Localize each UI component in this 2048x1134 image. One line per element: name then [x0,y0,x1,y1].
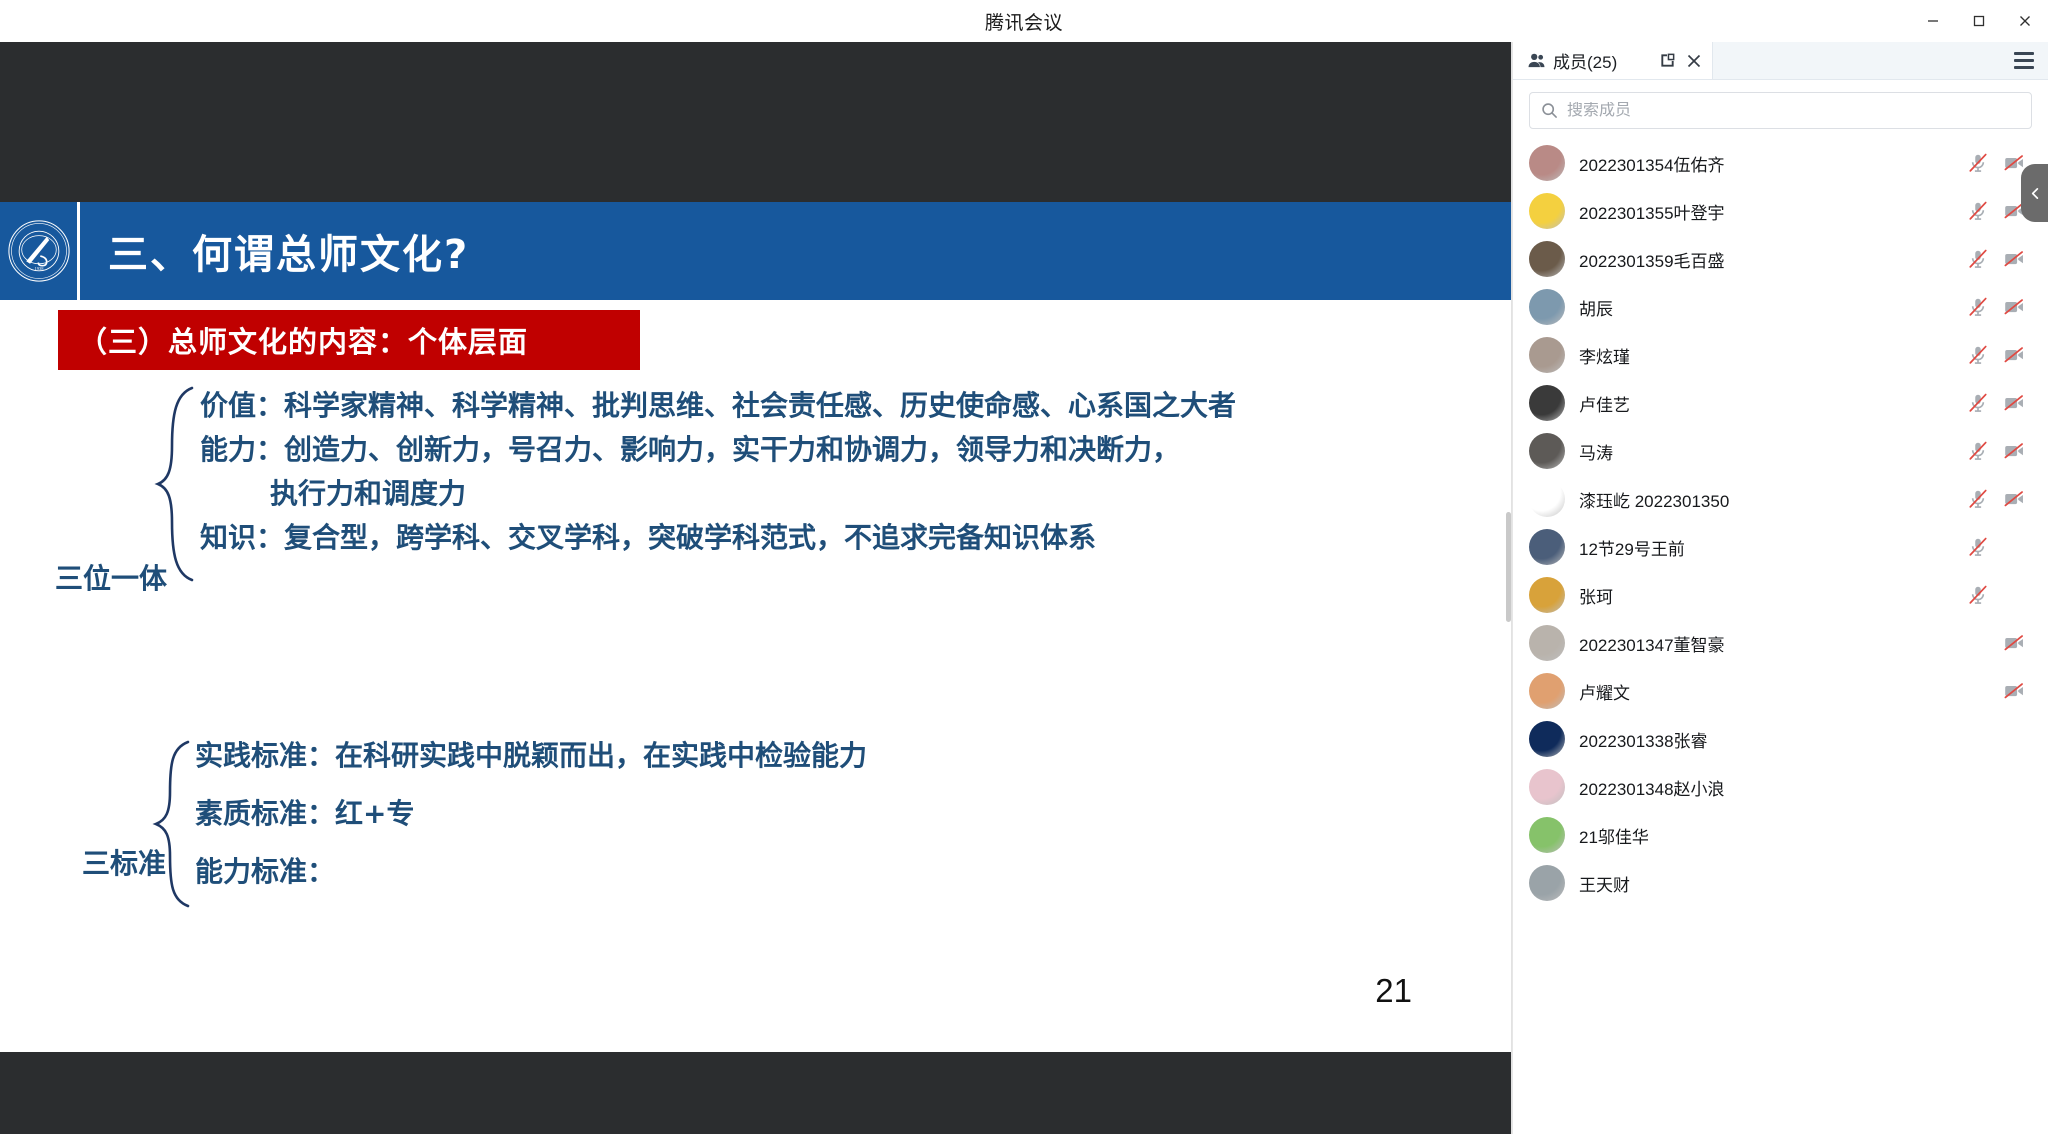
participant-row[interactable]: 12节29号王前 [1513,523,2048,571]
participant-row[interactable]: 2022301348赵小浪 [1513,763,2048,811]
participant-row[interactable]: 马涛 [1513,427,2048,475]
minimize-icon [1925,13,1941,29]
group-1-line-2: 能力：创造力、创新力，号召力、影响力，实干力和协调力，领导力和决断力， [200,436,1236,464]
participant-list[interactable]: 2022301354伍佑齐2022301355叶登宇2022301359毛百盛胡… [1513,139,2048,1134]
participant-status [1967,536,2025,558]
panel-tabbar: 成员(25) [1513,42,2048,80]
group-1-lines: 价值：科学家精神、科学精神、批判思维、社会责任感、历史使命感、心系国之大者 能力… [200,392,1236,568]
avatar [1529,673,1565,709]
participant-row[interactable]: 卢佳艺 [1513,379,2048,427]
slide-page-number: 21 [1375,972,1412,1010]
participant-status [1967,680,2025,702]
camera-muted-icon[interactable] [2003,344,2025,366]
camera-muted-icon[interactable] [2003,440,2025,462]
participant-name: 胡辰 [1579,295,1613,320]
participant-status [1967,728,2025,750]
participant-status [1967,296,2025,318]
camera-muted-icon[interactable] [2003,392,2025,414]
mic-muted-icon[interactable] [1967,392,1989,414]
participant-row[interactable]: 胡辰 [1513,283,2048,331]
avatar [1529,385,1565,421]
tab-participants-label: 成员(25) [1553,48,1617,73]
avatar [1529,865,1565,901]
participant-row[interactable]: 2022301338张睿 [1513,715,2048,763]
slide-header: 1938 三、何谓总师文化? [0,202,1512,300]
participant-row[interactable]: 漆珏屹 2022301350 [1513,475,2048,523]
avatar [1529,433,1565,469]
participant-name: 21邬佳华 [1579,823,1649,848]
camera-muted-icon[interactable] [2003,296,2025,318]
avatar [1529,769,1565,805]
group-1-line-1: 价值：科学家精神、科学精神、批判思维、社会责任感、历史使命感、心系国之大者 [200,392,1236,420]
collapse-panel-button[interactable] [2021,164,2048,222]
group-1-label: 三位一体 [55,557,167,597]
group-2-line-2: 素质标准：红+专 [195,800,867,828]
participant-status [1967,824,2025,846]
panel-close-icon[interactable] [1686,53,1702,69]
group-1-brace-icon [152,384,198,584]
mic-muted-icon[interactable] [1967,248,1989,270]
people-icon [1527,51,1546,70]
maximize-button[interactable] [1956,0,2002,42]
slide-subtitle-text: （三）总师文化的内容：个体层面 [58,319,528,361]
participant-status [1967,440,2025,462]
participant-status [1967,776,2025,798]
participant-name: 张珂 [1579,583,1613,608]
mic-muted-icon[interactable] [1967,344,1989,366]
participant-row[interactable]: 21邬佳华 [1513,811,2048,859]
mic-muted-icon[interactable] [1967,200,1989,222]
camera-muted-icon[interactable] [2003,632,2025,654]
participant-status [1967,152,2025,174]
participant-status [1967,344,2025,366]
participant-status [1967,200,2025,222]
mic-muted-icon[interactable] [1967,584,1989,606]
tab-actions [1659,52,1702,69]
avatar [1529,529,1565,565]
tabbar-empty-area [1713,42,2048,79]
participant-name: 漆珏屹 2022301350 [1579,487,1729,512]
participant-name: 2022301347董智豪 [1579,631,1725,656]
minimize-button[interactable] [1910,0,1956,42]
window-title: 腾讯会议 [985,8,1063,35]
avatar [1529,145,1565,181]
group-2-line-3: 能力标准： [195,858,867,886]
search-icon [1541,102,1558,119]
mic-muted-icon[interactable] [1967,296,1989,318]
participant-status [1967,872,2025,894]
avatar [1529,193,1565,229]
group-2-lines: 实践标准：在科研实践中脱颖而出，在实践中检验能力 素质标准：红+专 能力标准： [195,742,867,916]
shared-screen-stage[interactable]: 1938 三、何谓总师文化? （三）总师文化的内容：个体层面 三位一体 价值：科… [0,42,1512,1134]
search-box[interactable] [1529,92,2032,129]
university-logo: 1938 [0,202,80,300]
restore-icon [1971,13,1987,29]
participant-name: 2022301348赵小浪 [1579,775,1725,800]
participant-name: 王天财 [1579,871,1630,896]
participant-name: 2022301354伍佑齐 [1579,151,1725,176]
search-area [1513,80,2048,139]
participant-name: 12节29号王前 [1579,535,1685,560]
slide-title: 三、何谓总师文化? [108,222,469,280]
presentation-slide: 1938 三、何谓总师文化? （三）总师文化的内容：个体层面 三位一体 价值：科… [0,202,1512,1052]
nwpu-seal-icon: 1938 [7,219,71,283]
avatar [1529,337,1565,373]
group-1-line-4: 知识：复合型，跨学科、交叉学科，突破学科范式，不追求完备知识体系 [200,524,1236,552]
letterbox-top [0,42,1512,202]
participant-name: 2022301359毛百盛 [1579,247,1725,272]
participant-row[interactable]: 2022301354伍佑齐 [1513,139,2048,187]
close-button[interactable] [2002,0,2048,42]
participant-row[interactable]: 2022301355叶登宇 [1513,187,2048,235]
participant-row[interactable]: 王天财 [1513,859,2048,907]
participant-name: 2022301355叶登宇 [1579,199,1725,224]
tab-participants[interactable]: 成员(25) [1513,42,1713,79]
participant-status [1967,248,2025,270]
avatar [1529,817,1565,853]
avatar [1529,577,1565,613]
camera-muted-icon[interactable] [2003,248,2025,270]
chevron-left-icon [2029,187,2042,200]
avatar [1529,721,1565,757]
avatar [1529,481,1565,517]
participant-row[interactable]: 2022301347董智豪 [1513,619,2048,667]
group-2-brace-icon [148,738,194,910]
group-2-line-1: 实践标准：在科研实践中脱颖而出，在实践中检验能力 [195,742,867,770]
close-icon [2017,13,2033,29]
mic-muted-icon[interactable] [1967,440,1989,462]
mic-muted-icon[interactable] [1967,152,1989,174]
participant-row[interactable]: 2022301359毛百盛 [1513,235,2048,283]
window-titlebar: 腾讯会议 [0,0,2048,42]
participant-name: 卢耀文 [1579,679,1630,704]
participant-status [1967,584,2025,606]
avatar [1529,289,1565,325]
slide-group-2: 三标准 实践标准：在科研实践中脱颖而出，在实践中检验能力 素质标准：红+专 能力… [0,742,1512,1022]
slide-subtitle-banner: （三）总师文化的内容：个体层面 [58,310,640,370]
mic-muted-icon[interactable] [1967,488,1989,510]
participant-name: 2022301338张睿 [1579,727,1708,752]
participant-row[interactable]: 张珂 [1513,571,2048,619]
participant-name: 卢佳艺 [1579,391,1630,416]
svg-text:1938: 1938 [34,266,44,271]
group-1-line-3: 执行力和调度力 [200,480,1236,508]
popout-icon[interactable] [1659,52,1676,69]
participant-status [1967,632,2025,654]
avatar [1529,625,1565,661]
participant-row[interactable]: 李炫瑾 [1513,331,2048,379]
camera-muted-icon[interactable] [2003,680,2025,702]
mic-muted-icon[interactable] [1967,536,1989,558]
camera-muted-icon[interactable] [2003,488,2025,510]
participant-status [1967,392,2025,414]
participant-row[interactable]: 卢耀文 [1513,667,2048,715]
participant-name: 李炫瑾 [1579,343,1630,368]
hamburger-icon[interactable] [2014,52,2034,69]
window-controls [1910,0,2048,42]
participant-status [1967,488,2025,510]
slide-group-1: 三位一体 价值：科学家精神、科学精神、批判思维、社会责任感、历史使命感、心系国之… [0,392,1512,722]
search-input[interactable] [1567,102,2020,120]
participant-name: 马涛 [1579,439,1613,464]
participants-panel: 成员(25) [1512,42,2048,1134]
letterbox-bottom [0,1052,1512,1134]
avatar [1529,241,1565,277]
